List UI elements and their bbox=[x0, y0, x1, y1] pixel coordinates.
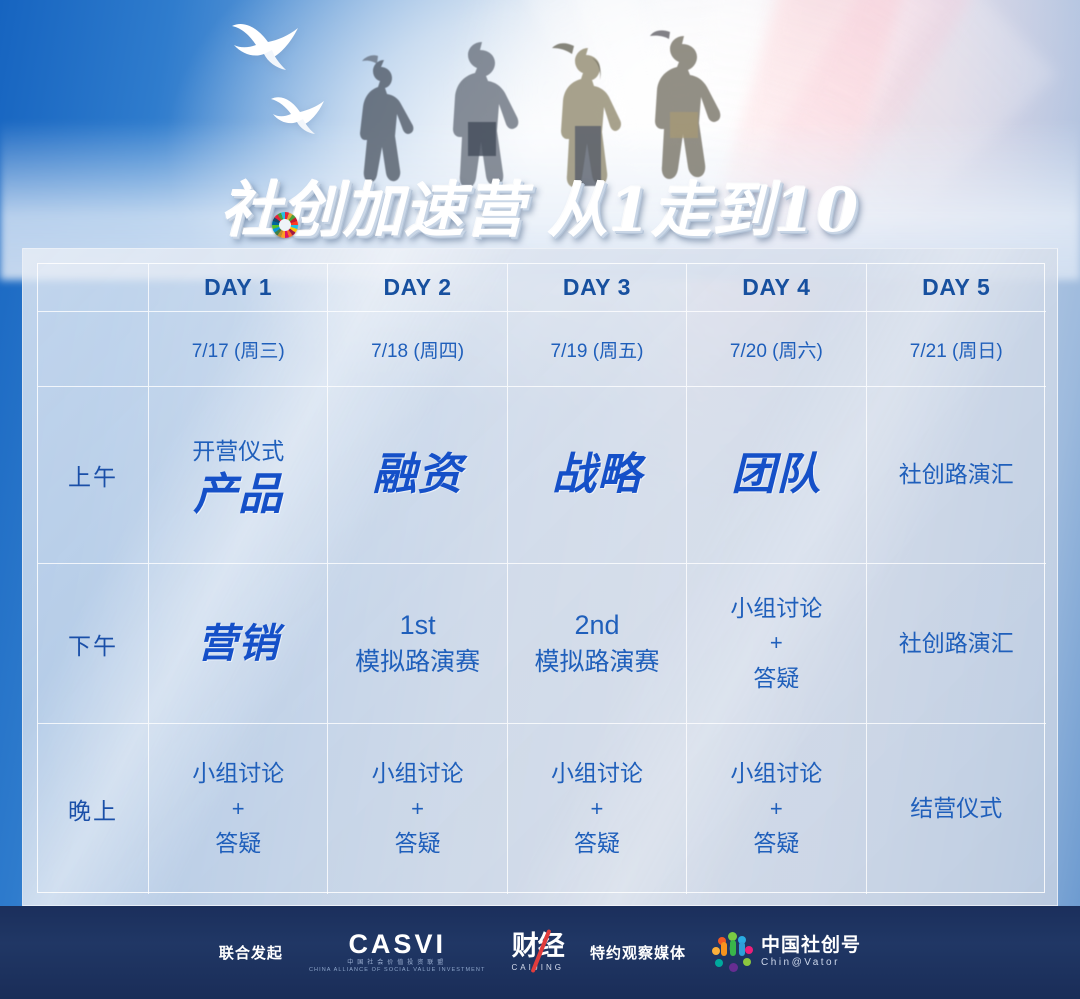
date-cell: 7/21 (周日) bbox=[867, 312, 1046, 387]
topic-strategy: 战略 bbox=[552, 452, 642, 498]
date-label: 7/19 (周五) bbox=[551, 336, 644, 363]
casvi-word-label: CASVI bbox=[348, 931, 446, 958]
period-label-cell: 晚上 bbox=[38, 724, 149, 894]
plus-separator: + bbox=[551, 792, 643, 826]
date-label: 7/18 (周四) bbox=[371, 336, 464, 363]
topic-financing: 融资 bbox=[373, 452, 463, 498]
mock-roadshow-label: 模拟路演赛 bbox=[355, 648, 480, 676]
day-header-label: DAY 3 bbox=[563, 274, 631, 301]
day-header-cell: DAY 3 bbox=[508, 264, 687, 312]
media-partner-label: 特约观察媒体 bbox=[590, 942, 686, 963]
schedule-panel: DAY 1 DAY 2 DAY 3 DAY 4 DAY 5 7/17 (周三) … bbox=[22, 248, 1058, 906]
afternoon-day4-cell: 小组讨论 + 答疑 bbox=[687, 564, 866, 724]
closing-ceremony-label: 结营仪式 bbox=[910, 792, 1002, 825]
plus-separator: + bbox=[730, 626, 822, 660]
date-label: 7/21 (周日) bbox=[910, 336, 1003, 363]
casvi-chinese-label: 中国社会价值投资联盟 bbox=[347, 960, 447, 966]
day-header-label: DAY 4 bbox=[742, 274, 810, 301]
group-discussion-label: 小组讨论 bbox=[730, 760, 822, 786]
title-main: 社创加速营 bbox=[221, 176, 526, 246]
footer-bar: 联合发起 CASVI 中国社会价值投资联盟 CHINA ALLIANCE OF … bbox=[0, 906, 1080, 999]
runner-silhouette bbox=[348, 54, 426, 194]
runner-silhouette bbox=[438, 38, 526, 196]
title-sub: 从1走到10 bbox=[548, 176, 859, 246]
evening-day2-cell: 小组讨论 + 答疑 bbox=[328, 724, 507, 894]
roadshow-label: 社创路演汇 bbox=[899, 627, 1014, 660]
qa-label: 答疑 bbox=[395, 830, 441, 856]
day-header-label: DAY 5 bbox=[922, 274, 990, 301]
schedule-grid: DAY 1 DAY 2 DAY 3 DAY 4 DAY 5 7/17 (周三) … bbox=[37, 263, 1045, 893]
grid-corner-cell bbox=[38, 264, 149, 312]
chinavator-chinese-label: 中国社创号 bbox=[761, 936, 861, 957]
roadshow-label: 社创路演汇 bbox=[899, 458, 1014, 491]
evening-day4-cell: 小组讨论 + 答疑 bbox=[687, 724, 866, 894]
ordinal-label: 1st bbox=[355, 607, 480, 645]
afternoon-day1-cell: 营销 bbox=[149, 564, 328, 724]
day-header-cell: DAY 4 bbox=[687, 264, 866, 312]
period-label-cell: 上午 bbox=[38, 387, 149, 564]
date-cell: 7/20 (周六) bbox=[687, 312, 866, 387]
date-cell: 7/17 (周三) bbox=[149, 312, 328, 387]
people-circle-icon bbox=[712, 932, 754, 974]
group-discussion-label: 小组讨论 bbox=[551, 760, 643, 786]
qa-label: 答疑 bbox=[753, 665, 799, 691]
plus-separator: + bbox=[730, 792, 822, 826]
period-label: 晚上 bbox=[68, 792, 118, 826]
morning-day2-cell: 融资 bbox=[328, 387, 507, 564]
poster-title: 社创加速营 从1走到10 bbox=[221, 176, 859, 246]
ordinal-label: 2nd bbox=[534, 607, 659, 645]
date-label: 7/20 (周六) bbox=[730, 336, 823, 363]
day-header-cell: DAY 1 bbox=[149, 264, 328, 312]
group-discussion-label: 小组讨论 bbox=[372, 760, 464, 786]
caijing-logo: 财经 CAIJING bbox=[511, 933, 564, 972]
sdg-wheel-icon bbox=[272, 212, 298, 238]
afternoon-day2-cell: 1st模拟路演赛 bbox=[328, 564, 507, 724]
qa-label: 答疑 bbox=[215, 830, 261, 856]
plus-separator: + bbox=[192, 792, 284, 826]
topic-marketing: 营销 bbox=[197, 623, 279, 665]
casvi-wordmark: CASVI bbox=[348, 931, 446, 958]
group-discussion-label: 小组讨论 bbox=[192, 760, 284, 786]
group-discussion-label: 小组讨论 bbox=[730, 595, 822, 621]
day-header-cell: DAY 5 bbox=[867, 264, 1046, 312]
mock-roadshow-label: 模拟路演赛 bbox=[534, 648, 659, 676]
casvi-english-label: CHINA ALLIANCE OF SOCIAL VALUE INVESTMEN… bbox=[309, 968, 486, 974]
day-header-cell: DAY 2 bbox=[328, 264, 507, 312]
morning-day1-cell: 开营仪式 产品 bbox=[149, 387, 328, 564]
cohost-label: 联合发起 bbox=[219, 942, 283, 963]
date-label: 7/17 (周三) bbox=[192, 336, 285, 363]
qa-label: 答疑 bbox=[574, 830, 620, 856]
morning-day5-cell: 社创路演汇 bbox=[867, 387, 1046, 564]
morning-day4-cell: 团队 bbox=[687, 387, 866, 564]
dove-icon bbox=[268, 88, 330, 136]
topic-product: 产品 bbox=[193, 472, 283, 518]
topic-team: 团队 bbox=[731, 452, 821, 498]
runner-silhouette bbox=[640, 30, 726, 190]
date-row-corner bbox=[38, 312, 149, 387]
plus-separator: + bbox=[372, 792, 464, 826]
afternoon-day5-cell: 社创路演汇 bbox=[867, 564, 1046, 724]
poster-root: 社创加速营 从1走到10 DAY 1 DAY 2 DAY 3 DAY 4 DAY… bbox=[0, 0, 1080, 999]
dove-icon bbox=[228, 12, 306, 74]
evening-day5-cell: 结营仪式 bbox=[867, 724, 1046, 894]
qa-label: 答疑 bbox=[753, 830, 799, 856]
date-cell: 7/19 (周五) bbox=[508, 312, 687, 387]
poster-title-block: 社创加速营 从1走到10 bbox=[0, 176, 1080, 248]
evening-day3-cell: 小组讨论 + 答疑 bbox=[508, 724, 687, 894]
period-label: 上午 bbox=[68, 458, 118, 492]
runner-silhouette bbox=[548, 42, 630, 196]
day-header-label: DAY 2 bbox=[383, 274, 451, 301]
casvi-logo: CASVI 中国社会价值投资联盟 CHINA ALLIANCE OF SOCIA… bbox=[309, 931, 486, 974]
afternoon-day3-cell: 2nd模拟路演赛 bbox=[508, 564, 687, 724]
evening-day1-cell: 小组讨论 + 答疑 bbox=[149, 724, 328, 894]
morning-day3-cell: 战略 bbox=[508, 387, 687, 564]
chinavator-english-label: Chin@Vator bbox=[761, 957, 861, 969]
date-cell: 7/18 (周四) bbox=[328, 312, 507, 387]
chinavator-logo: 中国社创号 Chin@Vator bbox=[712, 932, 861, 974]
opening-ceremony-label: 开营仪式 bbox=[192, 432, 284, 466]
day-header-label: DAY 1 bbox=[204, 274, 272, 301]
chinavator-text: 中国社创号 Chin@Vator bbox=[761, 936, 861, 969]
period-label: 下午 bbox=[68, 627, 118, 661]
period-label-cell: 下午 bbox=[38, 564, 149, 724]
